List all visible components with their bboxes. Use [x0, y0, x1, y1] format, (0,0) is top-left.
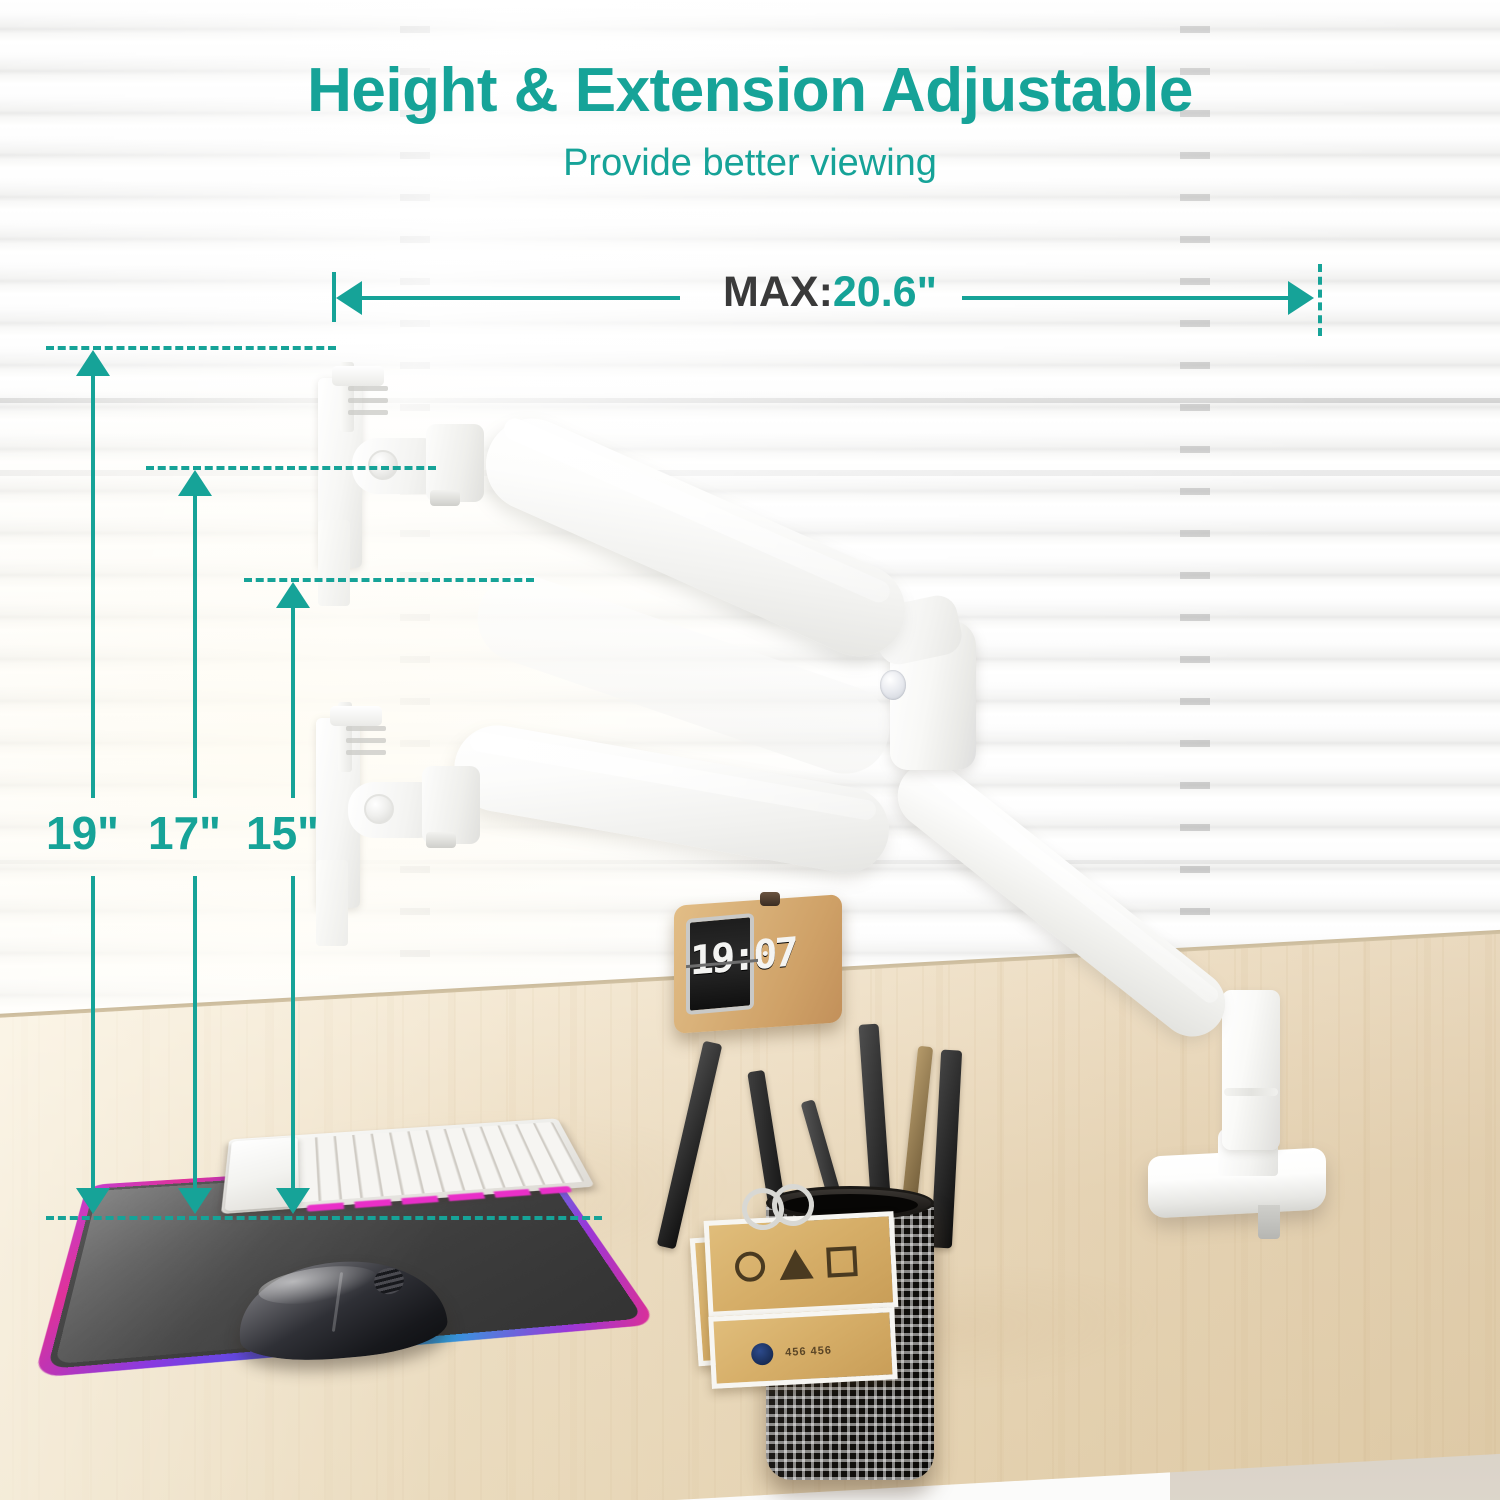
product-infographic: 19:07 456 456 Heig — [0, 0, 1500, 1500]
arm-tension-button — [880, 670, 906, 700]
square-icon — [826, 1246, 858, 1278]
brand-logo-icon — [751, 1343, 774, 1366]
keyboard-wrist-rest — [225, 1137, 300, 1211]
hang-tag-symbols — [704, 1211, 899, 1317]
vesa-pivot-knob-lower — [364, 794, 394, 824]
triangle-icon — [778, 1248, 814, 1280]
arm-vertical-post — [1222, 990, 1280, 1150]
clock-time-display: 19:07 — [690, 925, 750, 992]
hang-tag-logo: 456 456 — [708, 1307, 898, 1389]
squid-symbols — [734, 1246, 857, 1282]
vesa-pivot-knob-upper — [368, 450, 398, 480]
clock-knob — [760, 892, 780, 906]
post-seam-ring — [1224, 1088, 1278, 1096]
clamp-screw-foot — [1258, 1205, 1280, 1239]
tag-caption: 456 456 — [785, 1344, 832, 1358]
circle-icon — [734, 1251, 766, 1283]
